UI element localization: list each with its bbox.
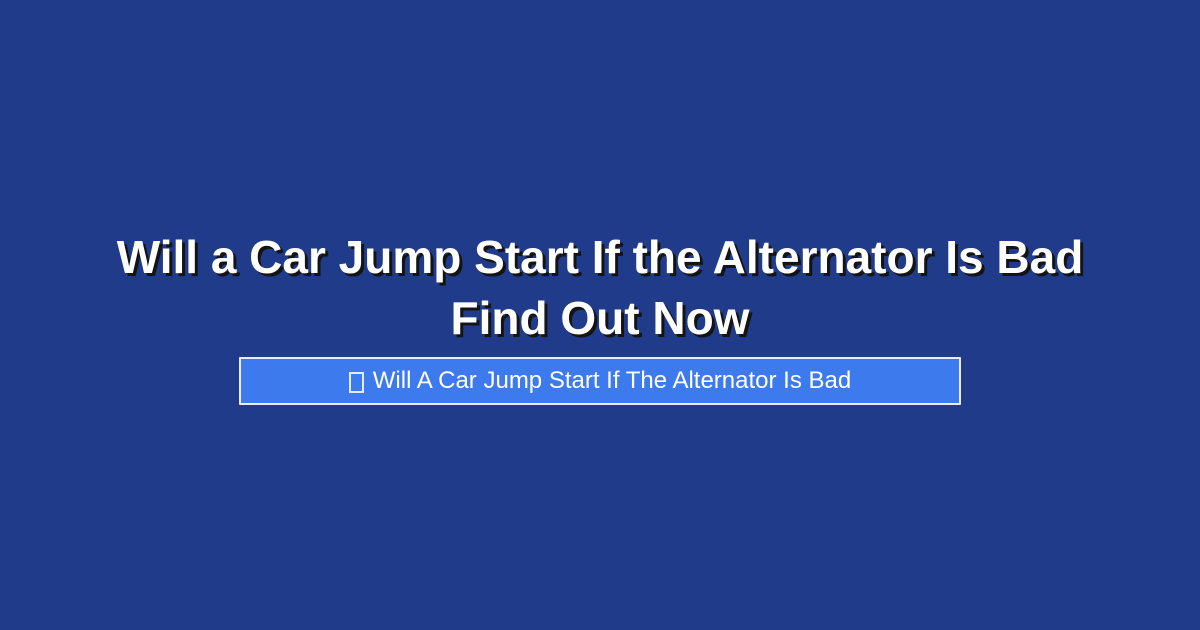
table-of-contents-button-content: Will A Car Jump Start If The Alternator … bbox=[349, 367, 851, 395]
og-share-card: Will a Car Jump Start If the Alternator … bbox=[0, 0, 1200, 630]
page-title: Will a Car Jump Start If the Alternator … bbox=[65, 227, 1135, 349]
table-of-contents-button-label: Will A Car Jump Start If The Alternator … bbox=[373, 367, 851, 395]
table-of-contents-button[interactable]: Will A Car Jump Start If The Alternator … bbox=[239, 357, 961, 405]
missing-glyph-box-icon bbox=[349, 372, 364, 393]
